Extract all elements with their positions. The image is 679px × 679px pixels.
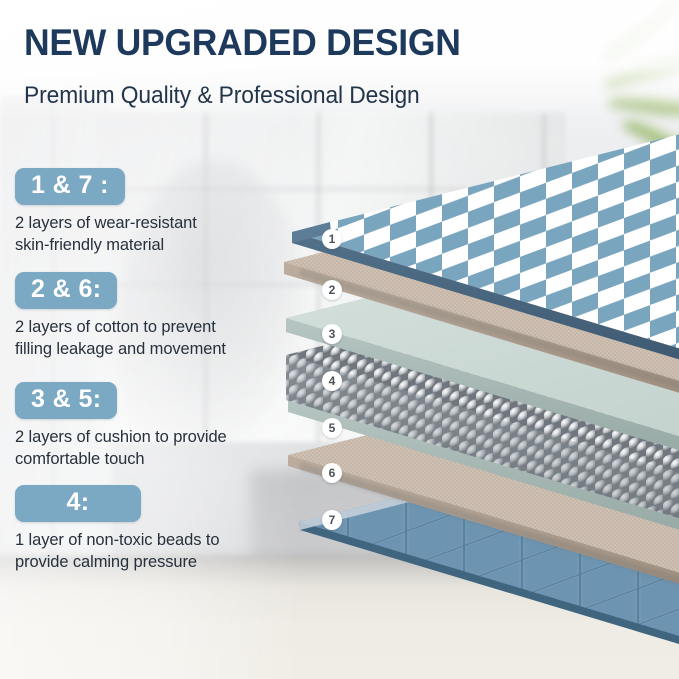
- feature-description: 1 layer of non-toxic beads to provide ca…: [15, 530, 219, 574]
- layer-number-7: 7: [322, 510, 342, 530]
- diagram-layer-6: [288, 339, 679, 586]
- diagram-layer-2: [284, 146, 679, 394]
- page-subtitle: Premium Quality & Professional Design: [24, 82, 420, 110]
- diagram-shadows: [300, 268, 679, 588]
- background-floor-shadow: [250, 470, 679, 610]
- feature-block-3-and-5: 3 & 5: 2 layers of cushion to provide co…: [15, 382, 227, 471]
- background-bed-surface: [0, 556, 679, 679]
- layer-number-4: 4: [322, 371, 342, 391]
- diagram-layer-3: [286, 202, 679, 452]
- feature-badge: 2 & 6:: [15, 272, 117, 309]
- page-title: NEW UPGRADED DESIGN: [24, 22, 461, 64]
- feature-block-4: 4: 1 layer of non-toxic beads to provide…: [15, 485, 219, 574]
- layer-number-3: 3: [322, 324, 342, 344]
- feature-badge: 4:: [15, 485, 141, 522]
- feature-description: 2 layers of cotton to prevent filling le…: [15, 317, 226, 361]
- feature-badge: 1 & 7 :: [15, 168, 125, 205]
- diagram-layer-1: [292, 116, 679, 363]
- layer-number-5: 5: [322, 418, 342, 438]
- diagram-layer-7: [300, 406, 679, 679]
- layer-number-1: 1: [322, 229, 342, 249]
- feature-block-2-and-6: 2 & 6: 2 layers of cotton to prevent fil…: [15, 272, 226, 361]
- feature-description: 2 layers of wear-resistant skin-friendly…: [15, 213, 197, 257]
- layer-number-6: 6: [322, 463, 342, 483]
- feature-badge: 3 & 5:: [15, 382, 117, 419]
- diagram-layer-4: [286, 239, 679, 520]
- layer-number-2: 2: [322, 280, 342, 300]
- background-plant: [525, 0, 679, 212]
- feature-block-1-and-7: 1 & 7 : 2 layers of wear-resistant skin-…: [15, 168, 197, 257]
- diagram-layer-5: [288, 282, 679, 532]
- feature-description: 2 layers of cushion to provide comfortab…: [15, 427, 227, 471]
- product-infographic: 1 2 3 4 5 6 7 NEW UPGRADED DESIGN Premiu…: [0, 0, 679, 679]
